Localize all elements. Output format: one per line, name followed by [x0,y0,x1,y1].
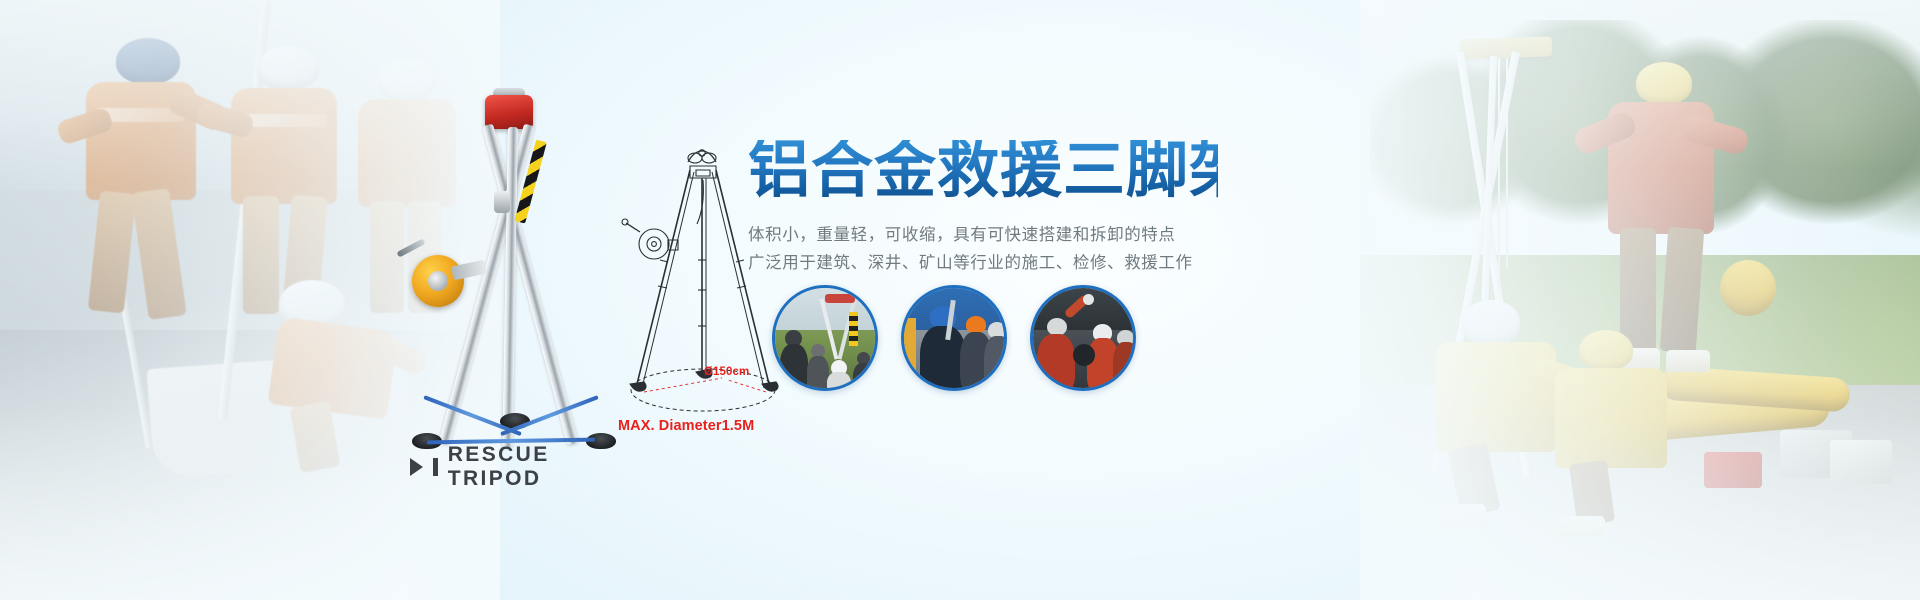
label-bar-icon [433,458,438,476]
gallery-thumbnails [772,285,1136,391]
product-tripod-render: RESCUE TRIPOD [390,95,640,465]
product-banner: RESCUE TRIPOD [0,0,1920,600]
max-diameter-label: MAX. Diameter1.5M [618,418,754,434]
gallery-thumb-inspection[interactable] [901,285,1007,391]
banner-subtitle: 体积小，重量轻，可收缩，具有可快速搭建和拆卸的特点 广泛用于建筑、深井、矿山等行… [748,221,1218,277]
play-triangle-icon [410,458,423,476]
banner-title: 铝合金救援三脚架 [748,140,1218,202]
diameter-label: Ø150cm [704,366,749,378]
right-rescue-scene-photo [1360,0,1920,600]
tripod-pulley [494,191,510,213]
subtitle-line-2: 广泛用于建筑、深井、矿山等行业的施工、检修、救援工作 [748,249,1218,277]
gallery-thumb-field-rescue[interactable] [772,285,878,391]
winch-handle [396,238,425,257]
gallery-thumb-confined-space[interactable] [1030,285,1136,391]
winch-hub [428,271,448,291]
banner-copy: 铝合金救援三脚架 体积小，重量轻，可收缩，具有可快速搭建和拆卸的特点 广泛用于建… [748,140,1218,277]
product-label: RESCUE TRIPOD [410,443,640,491]
subtitle-line-1: 体积小，重量轻，可收缩，具有可快速搭建和拆卸的特点 [748,221,1218,249]
